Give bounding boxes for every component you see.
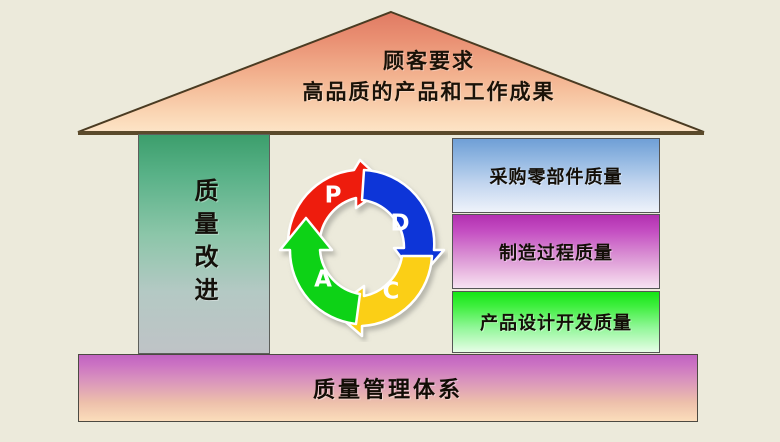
roof-text-group: 顾客要求 高品质的产品和工作成果: [76, 48, 706, 107]
left-pillar-quality-improvement: 质量改进: [138, 134, 270, 354]
right-box-product-design-development-quality: 产品设计开发质量: [452, 291, 660, 353]
roof-title-line1: 顾客要求: [76, 48, 706, 75]
foundation-quality-management-system: 质量管理体系: [78, 354, 698, 422]
right-box-purchased-parts-quality: 采购零部件质量: [452, 138, 660, 213]
right-box-manufacturing-process-quality: 制造过程质量: [452, 214, 660, 289]
right-box-label-2: 产品设计开发质量: [480, 309, 632, 335]
right-box-label-1: 制造过程质量: [499, 239, 613, 265]
foundation-label: 质量管理体系: [313, 372, 463, 404]
roof-shape: 顾客要求 高品质的产品和工作成果: [76, 10, 706, 138]
right-box-label-0: 采购零部件质量: [490, 163, 623, 189]
pdca-letter-d: D: [390, 211, 409, 237]
pdca-cycle: P D C A: [276, 152, 448, 342]
pdca-letter-a: A: [314, 267, 332, 293]
pdca-letter-c: C: [383, 279, 400, 305]
left-pillar-label: 质量改进: [192, 178, 216, 310]
pdca-letter-p: P: [325, 183, 342, 209]
diagram-canvas: 顾客要求 高品质的产品和工作成果 质量改进 采购零部件质量 制造过程质量 产品设…: [0, 0, 780, 442]
pdca-cycle-svg: P D C A: [276, 152, 448, 342]
roof-title-line2: 高品质的产品和工作成果: [76, 79, 706, 106]
